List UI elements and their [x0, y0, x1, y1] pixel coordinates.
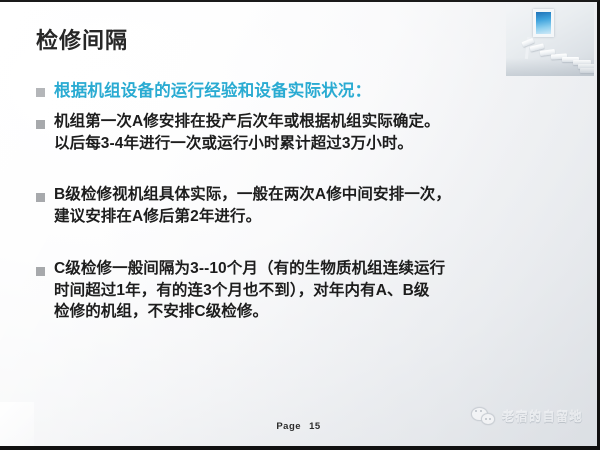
bullet-block-1: 机组第一次A修安排在投产后次年或根据机组实际确定。 以后每3-4年进行一次或运行… — [36, 111, 552, 154]
square-bullet-icon — [36, 267, 45, 276]
bullet-text-2: B级检修视机组具体实际，一般在两次A修中间安排一次， 建议安排在A修后第2年进行… — [54, 184, 552, 227]
page-number: 15 — [309, 421, 321, 432]
watermark: 老宿的自留地 — [471, 407, 583, 425]
slide-title: 检修间隔 — [36, 28, 128, 54]
page-label: Page — [276, 421, 301, 432]
bullet-line: 时间超过1年，有的连3个月也不到），对年内有A、B级 — [54, 280, 552, 302]
square-bullet-icon — [36, 193, 45, 202]
bullet-block-3: C级检修一般间隔为3--10个月（有的生物质机组连续运行 时间超过1年，有的连3… — [36, 258, 552, 323]
bullet-line: 检修的机组，不安排C级检修。 — [54, 301, 552, 323]
photo-blue-window — [533, 9, 554, 37]
bullet-line: B级检修视机组具体实际，一般在两次A修中间安排一次， — [54, 184, 552, 206]
bullet-text-1: 机组第一次A修安排在投产后次年或根据机组实际确定。 以后每3-4年进行一次或运行… — [54, 111, 552, 154]
bullet-line: 机组第一次A修安排在投产后次年或根据机组实际确定。 — [54, 111, 552, 133]
slide-content: 检修间隔 根据机组设备的运行经验和设备实际状况： 机组第一次A修安排在投产后次年… — [0, 2, 597, 446]
square-bullet-icon — [36, 88, 45, 97]
bullet-line: 建议安排在A修后第2年进行。 — [54, 206, 552, 228]
presentation-slide: 检修间隔 根据机组设备的运行经验和设备实际状况： 机组第一次A修安排在投产后次年… — [0, 0, 600, 450]
bullet-line: 根据机组设备的运行经验和设备实际状况： — [54, 80, 552, 103]
square-bullet-icon — [36, 120, 45, 129]
bullet-text-3: C级检修一般间隔为3--10个月（有的生物质机组连续运行 时间超过1年，有的连3… — [54, 258, 552, 323]
watermark-text: 老宿的自留地 — [502, 408, 583, 425]
slide-body: 根据机组设备的运行经验和设备实际状况： 机组第一次A修安排在投产后次年或根据机组… — [36, 80, 552, 323]
photo-shadow — [506, 58, 594, 76]
bullet-block-0: 根据机组设备的运行经验和设备实际状况： — [36, 80, 552, 103]
bullet-block-2: B级检修视机组具体实际，一般在两次A修中间安排一次， 建议安排在A修后第2年进行… — [36, 184, 552, 227]
wechat-icon — [471, 407, 495, 425]
staircase-photo — [506, 4, 594, 76]
bullet-text-0: 根据机组设备的运行经验和设备实际状况： — [54, 80, 552, 103]
bullet-line: 以后每3-4年进行一次或运行小时累计超过3万小时。 — [54, 133, 552, 155]
bullet-line: C级检修一般间隔为3--10个月（有的生物质机组连续运行 — [54, 258, 552, 280]
